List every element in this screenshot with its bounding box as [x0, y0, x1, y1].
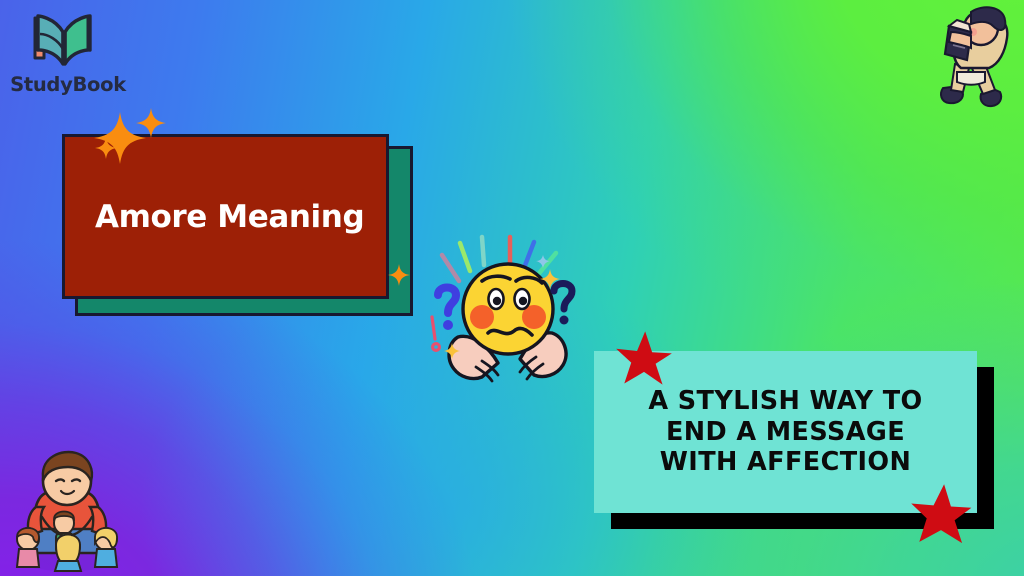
subtitle-text: A Stylish Way To End A Message With Affe…	[634, 386, 936, 479]
star-icon-bottom-right	[910, 483, 972, 545]
subtitle-line-1: A Stylish Way To	[648, 386, 922, 417]
sparkle-icon-medium	[136, 108, 166, 138]
child-playing-dolls-illustration	[6, 447, 130, 573]
subtitle-line-2: End A Message	[648, 417, 922, 448]
subtitle-card: A Stylish Way To End A Message With Affe…	[594, 351, 977, 513]
star-icon-top-left	[615, 329, 673, 387]
page-title: Amore Meaning	[65, 199, 364, 235]
doll-right	[95, 528, 117, 567]
confused-emoji-illustration	[424, 233, 588, 393]
doll-left	[17, 528, 39, 567]
sparkle-icon-small	[95, 137, 117, 159]
subtitle-line-3: With Affection	[648, 447, 922, 478]
emoji-cheek-left	[470, 305, 494, 329]
emoji-question-left	[438, 288, 456, 331]
emoji-exclamation	[432, 317, 439, 350]
open-book-icon	[28, 6, 100, 72]
studybook-logo[interactable]: StudyBook	[8, 6, 128, 96]
logo-wordmark: StudyBook	[8, 73, 128, 96]
doll-front	[55, 535, 81, 572]
child-with-book-illustration	[927, 2, 1013, 110]
emoji-question-right	[554, 284, 572, 325]
sparkle-icon-edge	[388, 264, 410, 286]
title-card: Amore Meaning	[62, 134, 389, 299]
